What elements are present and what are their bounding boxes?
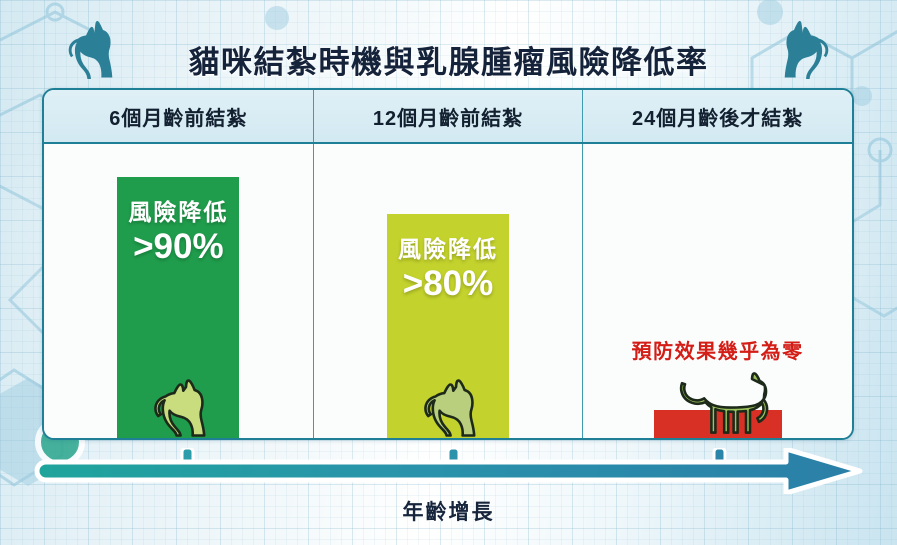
column-header-3: 24個月齡後才結紮 (583, 90, 852, 142)
chart-body-row: 風險降低 >90% 風險降低 >80% 預防效果幾乎為零 (44, 144, 852, 440)
chart-column-2: 風險降低 >80% (314, 144, 584, 440)
cat-sitting-icon (775, 20, 835, 88)
page-title: 貓咪結紮時機與乳腺腫瘤風險降低率 (189, 47, 709, 78)
cat-sitting-icon (62, 20, 122, 88)
cat-sitting-icon (142, 378, 214, 440)
cat-walking-icon (664, 372, 772, 438)
title-row: 貓咪結紮時機與乳腺腫瘤風險降低率 (0, 16, 897, 86)
cat-sitting-icon (412, 378, 484, 440)
bar-label-2: 風險降低 (398, 236, 498, 262)
bar-value-1: >90% (133, 229, 224, 266)
timeline-arrow (24, 448, 874, 494)
chart-column-1: 風險降低 >90% (44, 144, 314, 440)
column-header-2: 12個月齡前結紮 (314, 90, 584, 142)
bar-label-1: 風險降低 (128, 199, 228, 225)
bar-value-2: >80% (403, 266, 494, 303)
column-header-row: 6個月齡前結紮 12個月齡前結紮 24個月齡後才結紮 (44, 90, 852, 144)
timeline-caption: 年齡增長 (0, 496, 897, 526)
bar-12-months: 風險降低 >80% (387, 214, 509, 440)
column-header-1: 6個月齡前結紮 (44, 90, 314, 142)
bar-6-months: 風險降低 >90% (117, 177, 239, 440)
chart-column-3: 預防效果幾乎為零 (583, 144, 852, 440)
chart-panel: 6個月齡前結紮 12個月齡前結紮 24個月齡後才結紮 風險降低 >90% 風險降… (42, 88, 854, 440)
zero-effect-note: 預防效果幾乎為零 (632, 335, 804, 364)
